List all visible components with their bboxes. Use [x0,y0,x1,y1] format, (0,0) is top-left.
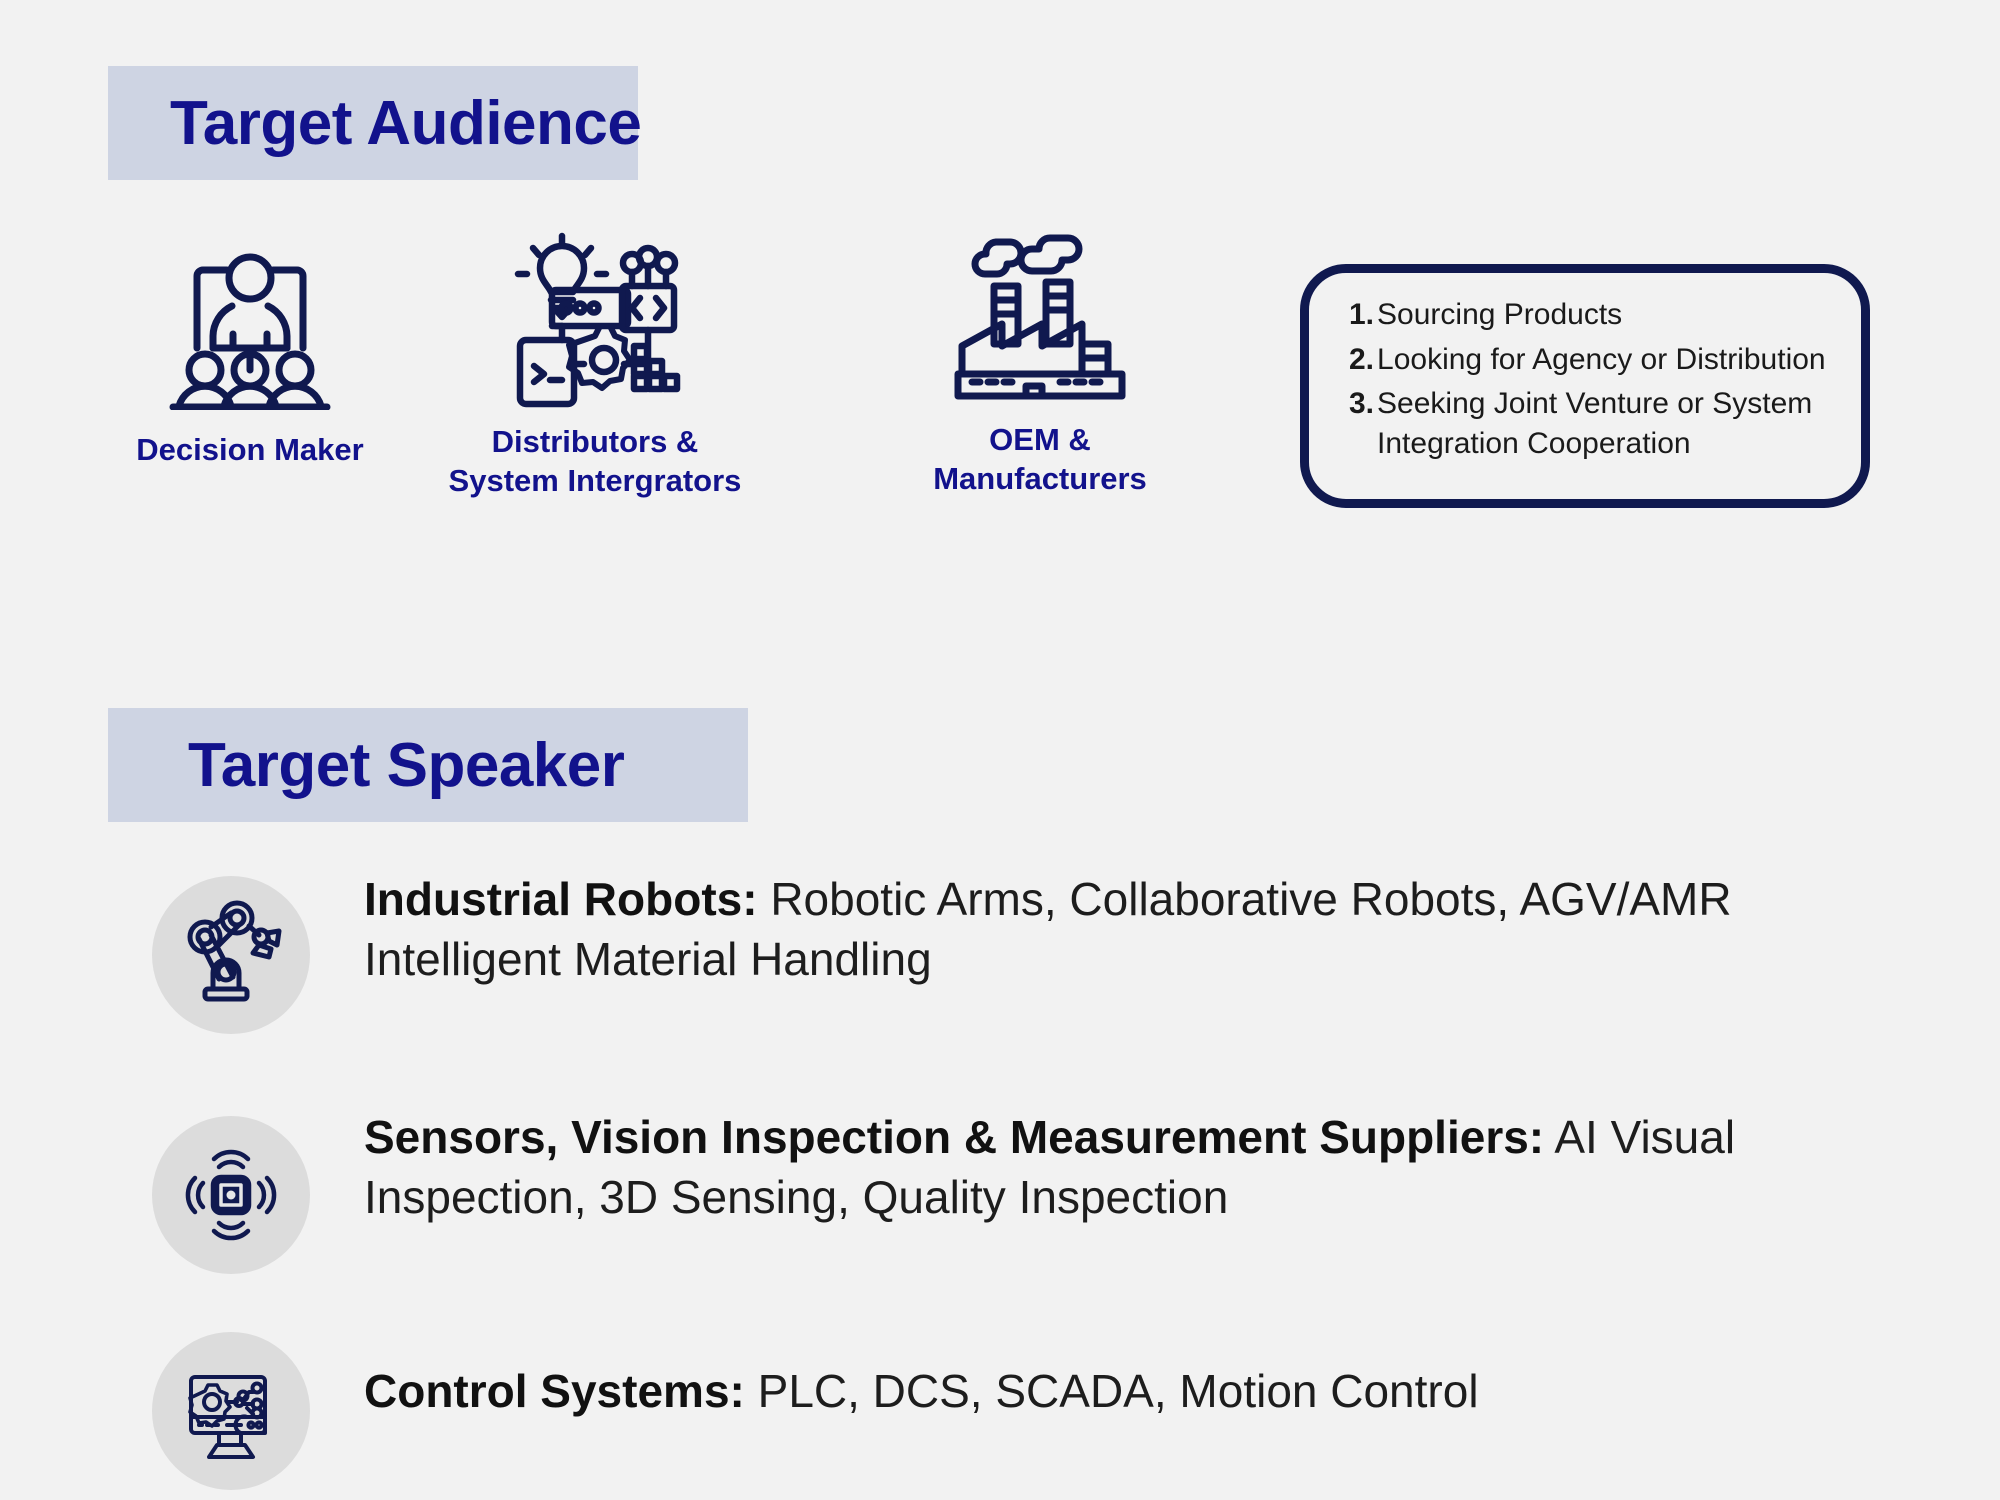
speaker-label-sensors: Sensors, Vision Inspection & Measurement… [364,1111,1544,1163]
section-title-audience: Target Audience [170,88,641,159]
speaker-text-control-systems: Control Systems: PLC, DCS, SCADA, Motion… [364,1362,1479,1422]
callout-item-number: 2. [1349,340,1374,380]
audience-callout-box: 1. Sourcing Products 2. Looking for Agen… [1300,264,1870,508]
audience-item-oem[interactable]: OEM & Manufacturers [890,225,1190,498]
audience-label-decision-maker: Decision Maker [136,430,363,469]
audience-label-oem: OEM & Manufacturers [933,420,1147,498]
callout-item-text: Seeking Joint Venture or System Integrat… [1377,384,1831,463]
speaker-text-sensors: Sensors, Vision Inspection & Measurement… [364,1108,1824,1228]
callout-list: 1. Sourcing Products 2. Looking for Agen… [1349,295,1831,463]
robot-arm-icon [152,876,310,1034]
slide-root: Target Audience [0,0,2000,1500]
audience-item-distributors[interactable]: Distributors & System Intergrators [430,225,760,500]
factory-icon [950,225,1130,410]
speaker-row-industrial-robots[interactable]: Industrial Robots: Robotic Arms, Collabo… [152,870,1952,1034]
audience-item-decision-maker[interactable]: Decision Maker [100,225,400,469]
speaker-row-sensors[interactable]: Sensors, Vision Inspection & Measurement… [152,1110,1952,1274]
speaker-row-control-systems[interactable]: Control Systems: PLC, DCS, SCADA, Motion… [152,1332,1952,1490]
audience-label-distributors: Distributors & System Intergrators [449,422,742,500]
callout-list-item: 2. Looking for Agency or Distribution [1349,340,1831,380]
section-header-audience: Target Audience [108,66,638,180]
section-title-speaker: Target Speaker [188,730,624,801]
callout-list-item: 3. Seeking Joint Venture or System Integ… [1349,384,1831,463]
control-monitor-icon [152,1332,310,1490]
speaker-label-industrial-robots: Industrial Robots: [364,873,758,925]
callout-item-number: 1. [1349,295,1374,335]
speaker-text-industrial-robots: Industrial Robots: Robotic Arms, Collabo… [364,870,1824,990]
speaker-body-control-systems: PLC, DCS, SCADA, Motion Control [745,1365,1479,1417]
callout-item-text: Sourcing Products [1377,295,1831,335]
callout-item-number: 3. [1349,384,1374,424]
system-integration-icon [500,225,690,410]
speaker-label-control-systems: Control Systems: [364,1365,745,1417]
callout-list-item: 1. Sourcing Products [1349,295,1831,335]
section-header-speaker: Target Speaker [108,708,748,822]
callout-item-text: Looking for Agency or Distribution [1377,340,1831,380]
sensor-waves-icon [152,1116,310,1274]
presenter-audience-icon [155,225,345,410]
